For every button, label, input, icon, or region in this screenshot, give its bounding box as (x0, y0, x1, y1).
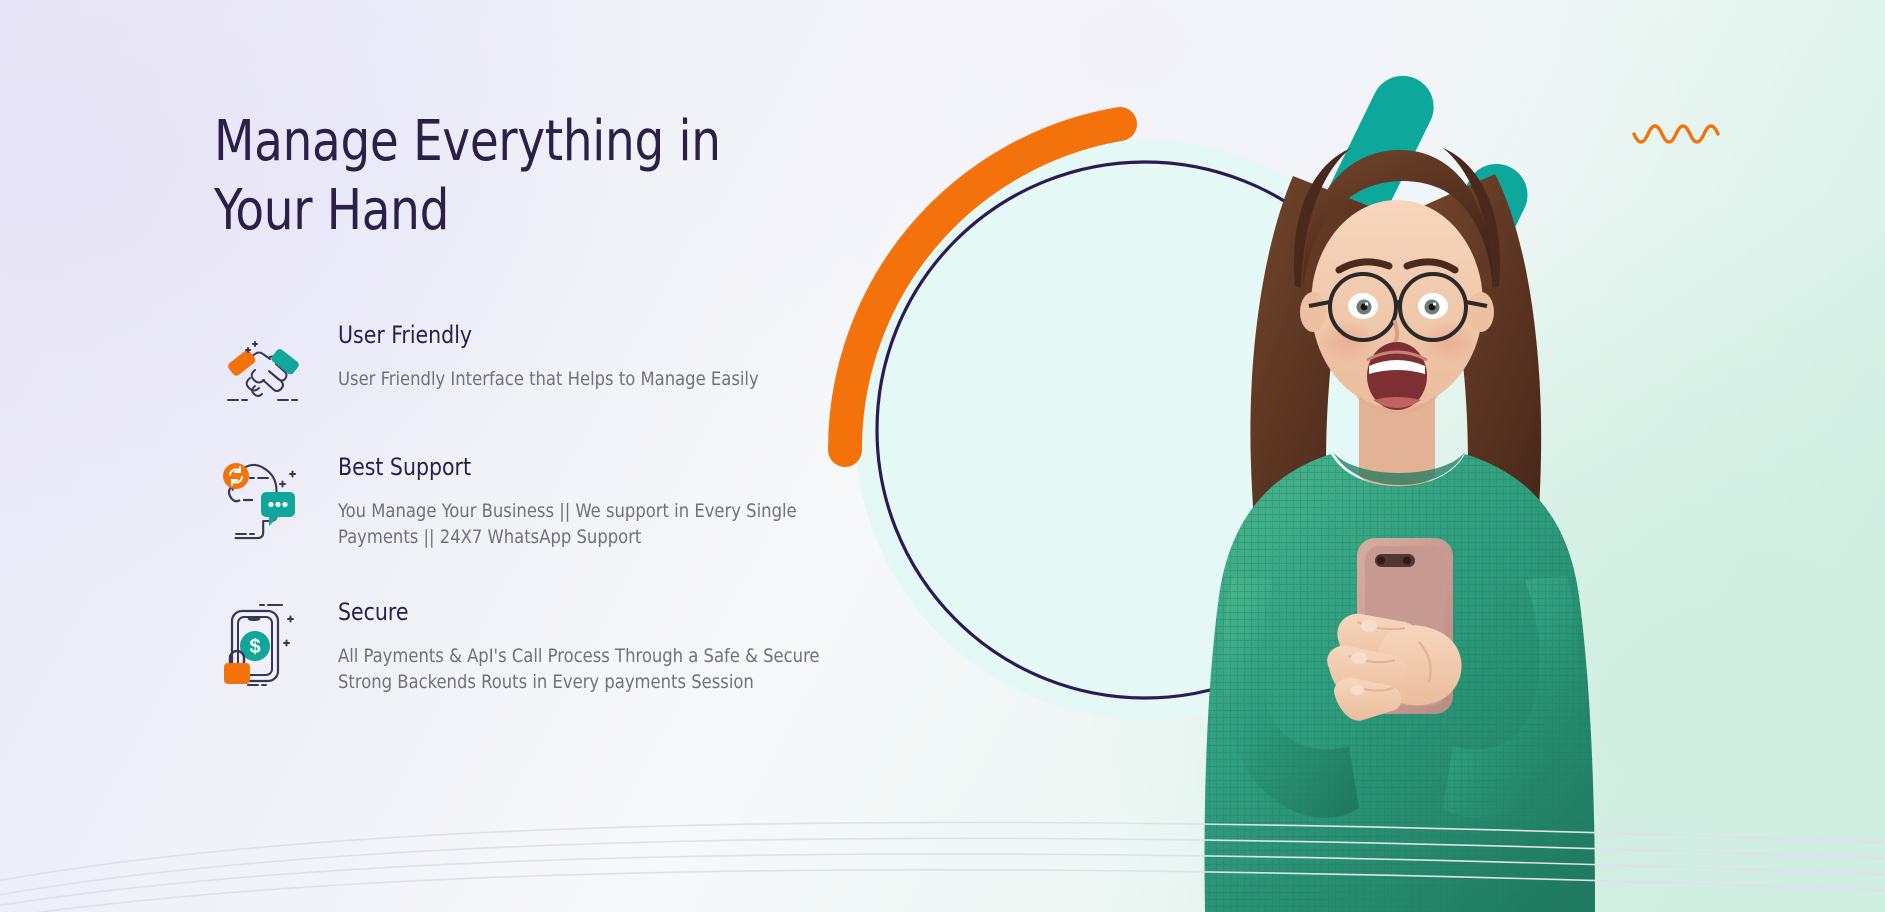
head-support-chat-icon (214, 456, 310, 542)
feature-body: User Friendly User Friendly Interface th… (338, 320, 776, 393)
feature-description: All Payments & ApI's Call Process Throug… (338, 644, 820, 696)
handshake-icon (214, 324, 310, 410)
page-title: Manage Everything in Your Hand (214, 108, 977, 246)
feature-title: Best Support (338, 454, 792, 480)
feature-description: You Manage Your Business || We support i… (338, 499, 797, 551)
feature-description: User Friendly Interface that Helps to Ma… (338, 367, 759, 393)
hero-banner: Manage Everything in Your Hand (0, 0, 1885, 912)
feature-title: Secure (338, 599, 814, 625)
feature-body: Secure All Payments & ApI's Call Process… (338, 597, 840, 696)
feature-body: Best Support You Manage Your Business ||… (338, 452, 816, 551)
woman-with-phone-photo (1143, 56, 1663, 912)
svg-text:$: $ (249, 636, 260, 658)
feature-item-user-friendly: User Friendly User Friendly Interface th… (214, 320, 1034, 406)
orange-squiggle-top-icon (1630, 120, 1730, 154)
hero-content: Manage Everything in Your Hand (214, 108, 1034, 696)
feature-list: User Friendly User Friendly Interface th… (214, 320, 1034, 696)
secure-phone-lock-icon: $ (214, 601, 310, 687)
feature-item-secure: $ Secure (214, 597, 1034, 696)
feature-item-best-support: Best Support You Manage Your Business ||… (214, 452, 1034, 551)
feature-title: User Friendly (338, 322, 754, 348)
